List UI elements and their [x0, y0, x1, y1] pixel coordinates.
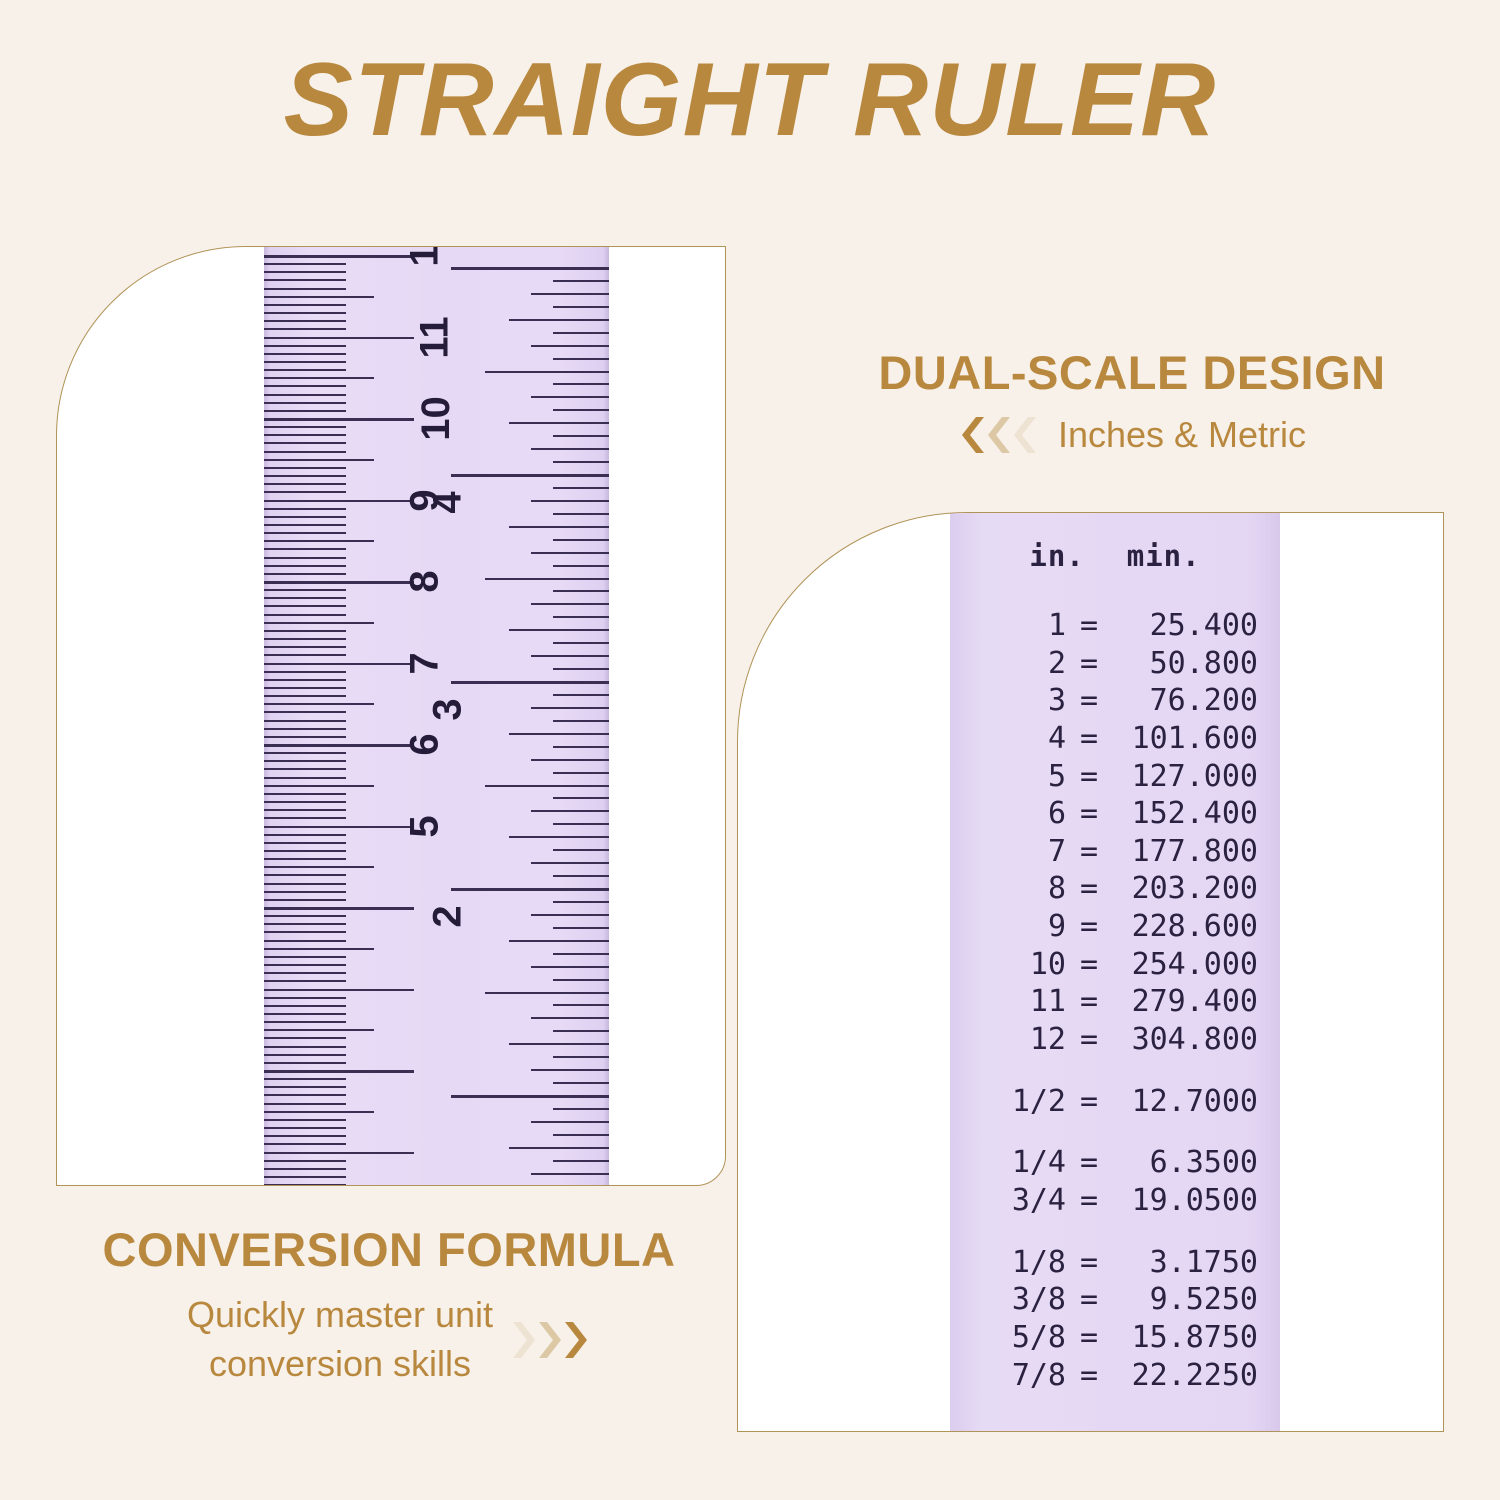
ruler-tick [553, 1134, 609, 1136]
ruler-tick [509, 629, 609, 631]
ruler-tick [264, 874, 346, 876]
ruler-tick [264, 1013, 346, 1015]
ruler-tick [531, 500, 609, 502]
ruler-tick [264, 948, 374, 950]
ruler-tick [264, 711, 346, 713]
chevron-right-icon [513, 1320, 539, 1360]
conversion-table: in. min. 1=25.4002=50.8003=76.2004=101.6… [950, 539, 1280, 1394]
ruler-tick [264, 989, 414, 992]
ruler-tick [264, 377, 374, 379]
ruler-tick [264, 353, 346, 355]
ruler-tick [553, 461, 609, 463]
ruler-tick [264, 557, 346, 559]
ruler-tick [264, 671, 346, 673]
ruler-tick [264, 915, 346, 917]
ruler-tick [264, 279, 346, 281]
ruler-tick [264, 1135, 346, 1137]
ruler-tick [264, 418, 414, 421]
ruler-tick [553, 927, 609, 929]
row-equals: = [1066, 758, 1112, 796]
row-inches: 8 [988, 870, 1066, 908]
ruler-tick [553, 1030, 609, 1032]
ruler-tick [553, 306, 609, 308]
ruler-tick [553, 720, 609, 722]
metric-scale-number: 6 [403, 733, 448, 755]
ruler-tick [264, 972, 346, 974]
ruler-tick [553, 772, 609, 774]
ruler-tick [553, 1160, 609, 1162]
ruler-tick [264, 1094, 346, 1096]
ruler-tick [264, 271, 346, 273]
ruler-tick [531, 1121, 609, 1123]
ruler-tick [264, 630, 346, 632]
metric-scale-number: 10 [414, 396, 459, 441]
ruler-tick [264, 589, 346, 591]
ruler-tick [264, 646, 346, 648]
ruler-tick [264, 491, 346, 493]
ruler-tick [264, 997, 346, 999]
ruler-tick [264, 345, 346, 347]
dual-scale-feature: DUAL-SCALE DESIGN Inches & Metric [812, 345, 1452, 456]
ruler-tick [264, 834, 346, 836]
row-millimeters: 50.800 [1112, 645, 1258, 683]
infographic-stage: STRAIGHT RULER 1111098765 432 in. min. 1… [0, 0, 1500, 1500]
ruler-tick [264, 1046, 346, 1048]
conversion-row: 8=203.200 [950, 870, 1280, 908]
ruler-tick [553, 746, 609, 748]
ruler-tick [264, 337, 414, 340]
ruler-tick [264, 410, 346, 412]
ruler-tick [553, 539, 609, 541]
ruler-tick [264, 663, 414, 666]
conversion-row: 9=228.600 [950, 908, 1280, 946]
row-equals: = [1066, 870, 1112, 908]
ruler-tick [264, 296, 374, 298]
chevron-right-icon [539, 1320, 565, 1360]
row-equals: = [1066, 908, 1112, 946]
ruler-tick [264, 1168, 346, 1170]
metric-scale-number: 7 [403, 652, 448, 674]
conversion-table-strip: in. min. 1=25.4002=50.8003=76.2004=101.6… [950, 513, 1280, 1431]
ruler-tick [531, 396, 609, 398]
conversion-rows-whole: 1=25.4002=50.8003=76.2004=101.6005=127.0… [950, 607, 1280, 1059]
ruler-tick [264, 1152, 414, 1155]
row-millimeters: 152.400 [1112, 795, 1258, 833]
ruler-tick [264, 597, 346, 599]
inch-scale-number: 2 [425, 905, 470, 927]
ruler-tick [553, 590, 609, 592]
ruler-tick [553, 953, 609, 955]
row-millimeters: 101.600 [1112, 720, 1258, 758]
ruler-tick [264, 785, 374, 787]
dual-scale-subtext: Inches & Metric [1058, 414, 1306, 456]
row-inches: 7/8 [988, 1357, 1066, 1395]
row-millimeters: 25.400 [1112, 607, 1258, 645]
conversion-row: 3/8=9.5250 [950, 1281, 1280, 1319]
metric-scale-number: 1 [403, 246, 448, 267]
conversion-rows-half: 1/2=12.7000 [950, 1083, 1280, 1121]
row-equals: = [1066, 946, 1112, 984]
ruler-tick [509, 1043, 609, 1045]
ruler-tick [264, 516, 346, 518]
row-inches: 7 [988, 833, 1066, 871]
ruler-tick [264, 1111, 374, 1113]
ruler-tick [264, 1086, 346, 1088]
ruler-tick [553, 849, 609, 851]
ruler-tick [264, 451, 346, 453]
ruler-tick [485, 992, 609, 994]
header-col-inches: in. [1029, 539, 1084, 573]
conversion-table-header: in. min. [950, 539, 1280, 573]
ruler-tick [451, 1095, 609, 1098]
conversion-row: 3=76.200 [950, 682, 1280, 720]
conversion-card: in. min. 1=25.4002=50.8003=76.2004=101.6… [737, 512, 1444, 1432]
ruler-tick [264, 475, 346, 477]
ruler-tick [264, 1021, 346, 1023]
row-inches: 3/4 [988, 1182, 1066, 1220]
ruler-tick [531, 655, 609, 657]
metric-tick-scale [264, 247, 436, 1185]
ruler-tick [553, 1082, 609, 1084]
row-inches: 9 [988, 908, 1066, 946]
row-inches: 1/8 [988, 1244, 1066, 1282]
ruler-tick [264, 263, 346, 265]
ruler-tick [264, 1054, 346, 1056]
ruler-tick [553, 280, 609, 282]
row-equals: = [1066, 645, 1112, 683]
ruler-tick [264, 956, 346, 958]
ruler-tick [264, 760, 346, 762]
row-inches: 1/2 [988, 1083, 1066, 1121]
ruler-tick [264, 768, 346, 770]
row-millimeters: 177.800 [1112, 833, 1258, 871]
ruler-tick [264, 1062, 346, 1064]
ruler-tick [264, 500, 414, 503]
conversion-row: 2=50.800 [950, 645, 1280, 683]
ruler-tick [264, 858, 346, 860]
ruler-tick [264, 687, 346, 689]
metric-scale-number: 11 [413, 316, 458, 358]
ruler-tick [553, 409, 609, 411]
row-inches: 1 [988, 607, 1066, 645]
row-equals: = [1066, 607, 1112, 645]
ruler-tick [531, 293, 609, 295]
ruler-tick [531, 707, 609, 709]
ruler-tick [264, 581, 414, 584]
ruler-tick [264, 540, 374, 542]
page-title: STRAIGHT RULER [0, 46, 1500, 155]
row-equals: = [1066, 682, 1112, 720]
conversion-row: 1/4=6.3500 [950, 1144, 1280, 1182]
chevron-left-icon [984, 415, 1010, 455]
ruler-tick [553, 901, 609, 903]
ruler-tick [264, 483, 346, 485]
ruler-tick [553, 1108, 609, 1110]
conversion-row: 1=25.400 [950, 607, 1280, 645]
ruler-tick [264, 467, 346, 469]
ruler-tick [264, 1184, 346, 1186]
ruler-tick [264, 923, 346, 925]
ruler-tick [264, 907, 414, 910]
metric-scale-number: 5 [403, 815, 448, 837]
ruler-tick [264, 883, 346, 885]
ruler-tick [531, 1017, 609, 1019]
conversion-subtext-line2: conversion skills [187, 1340, 493, 1389]
row-millimeters: 12.7000 [1112, 1083, 1258, 1121]
ruler-card: 1111098765 432 [56, 246, 726, 1186]
ruler-tick [264, 361, 346, 363]
ruler-tick [264, 385, 346, 387]
conversion-row: 7/8=22.2250 [950, 1357, 1280, 1395]
conversion-row: 4=101.600 [950, 720, 1280, 758]
conversion-formula-feature: CONVERSION FORMULA Quickly master unit c… [44, 1222, 734, 1388]
ruler-tick [264, 793, 346, 795]
ruler-tick [509, 733, 609, 735]
ruler-tick [509, 940, 609, 942]
ruler-tick [509, 526, 609, 528]
conversion-row: 5/8=15.8750 [950, 1319, 1280, 1357]
ruler-tick [553, 435, 609, 437]
conversion-rows-quarter: 1/4=6.35003/4=19.0500 [950, 1144, 1280, 1219]
conversion-row: 7=177.800 [950, 833, 1280, 871]
ruler-tick [264, 891, 346, 893]
ruler-tick [264, 548, 346, 550]
row-millimeters: 15.8750 [1112, 1319, 1258, 1357]
ruler-tick [553, 668, 609, 670]
ruler-tick [485, 371, 609, 373]
row-millimeters: 3.1750 [1112, 1244, 1258, 1282]
ruler-tick [485, 785, 609, 787]
chevron-right-group [513, 1320, 591, 1360]
ruler-tick [264, 1070, 414, 1073]
conversion-row: 12=304.800 [950, 1021, 1280, 1059]
ruler-tick [264, 508, 346, 510]
ruler-tick [553, 875, 609, 877]
metric-scale-number: 8 [403, 570, 448, 592]
row-inches: 4 [988, 720, 1066, 758]
row-millimeters: 304.800 [1112, 1021, 1258, 1059]
ruler-tick [264, 679, 346, 681]
conversion-rows-eighth: 1/8=3.17503/8=9.52505/8=15.87507/8=22.22… [950, 1244, 1280, 1395]
chevron-left-icon [958, 415, 984, 455]
header-col-millimeters: min. [1127, 539, 1201, 573]
row-millimeters: 203.200 [1112, 870, 1258, 908]
row-equals: = [1066, 1244, 1112, 1282]
ruler-tick [264, 752, 346, 754]
ruler-tick [264, 817, 346, 819]
ruler-tick [509, 1147, 609, 1149]
row-equals: = [1066, 1182, 1112, 1220]
row-inches: 11 [988, 983, 1066, 1021]
ruler-tick [264, 605, 346, 607]
ruler-tick [509, 422, 609, 424]
ruler-tick [531, 1069, 609, 1071]
ruler-tick [264, 426, 346, 428]
row-inches: 2 [988, 645, 1066, 683]
ruler-tick [264, 1143, 346, 1145]
ruler-tick [264, 980, 346, 982]
ruler-tick [264, 1160, 346, 1162]
row-millimeters: 22.2250 [1112, 1357, 1258, 1395]
ruler-tick [553, 487, 609, 489]
ruler-tick [264, 695, 346, 697]
ruler-tick [451, 474, 609, 477]
ruler-tick [264, 459, 374, 461]
ruler-tick [553, 797, 609, 799]
ruler-tick [264, 1103, 346, 1105]
ruler-tick [264, 288, 346, 290]
ruler-tick [531, 810, 609, 812]
ruler-tick [264, 809, 346, 811]
ruler-tick [531, 345, 609, 347]
ruler-tick [264, 565, 346, 567]
ruler-tick [531, 1173, 609, 1175]
row-millimeters: 279.400 [1112, 983, 1258, 1021]
ruler-tick [264, 622, 374, 624]
ruler-tick [531, 759, 609, 761]
ruler-tick [531, 448, 609, 450]
ruler-tick [553, 823, 609, 825]
conversion-row: 10=254.000 [950, 946, 1280, 984]
row-inches: 12 [988, 1021, 1066, 1059]
ruler-tick [264, 801, 346, 803]
row-equals: = [1066, 720, 1112, 758]
ruler-tick [531, 914, 609, 916]
row-millimeters: 228.600 [1112, 908, 1258, 946]
ruler-tick [509, 319, 609, 321]
row-equals: = [1066, 1357, 1112, 1395]
ruler-tick [553, 694, 609, 696]
ruler-tick [264, 1119, 346, 1121]
ruler-tick [553, 332, 609, 334]
ruler-tick [264, 328, 346, 330]
ruler-tick [264, 573, 346, 575]
ruler-tick [264, 654, 346, 656]
ruler-tick [531, 862, 609, 864]
ruler-tick [264, 964, 346, 966]
ruler-tick [264, 1078, 346, 1080]
conversion-row: 1/8=3.1750 [950, 1244, 1280, 1282]
ruler-tick [264, 850, 346, 852]
row-inches: 3 [988, 682, 1066, 720]
row-equals: = [1066, 1021, 1112, 1059]
ruler-tick [264, 304, 346, 306]
conversion-row: 5=127.000 [950, 758, 1280, 796]
ruler-tick [553, 642, 609, 644]
ruler-tick [264, 369, 346, 371]
ruler-tick [264, 866, 374, 868]
ruler-tick [451, 888, 609, 891]
ruler-tick [553, 979, 609, 981]
ruler-tick [264, 1176, 346, 1178]
row-millimeters: 254.000 [1112, 946, 1258, 984]
ruler-tick [553, 565, 609, 567]
ruler-tick [553, 358, 609, 360]
row-millimeters: 76.200 [1112, 682, 1258, 720]
ruler-tick [264, 1127, 346, 1129]
ruler-tick [264, 1005, 346, 1007]
ruler-tick [264, 940, 346, 942]
row-inches: 3/8 [988, 1281, 1066, 1319]
ruler-tick [264, 842, 346, 844]
chevron-left-icon [1010, 415, 1036, 455]
conversion-formula-heading: CONVERSION FORMULA [44, 1222, 734, 1277]
ruler-tick [264, 899, 346, 901]
ruler-tick [485, 578, 609, 580]
ruler-tick [264, 434, 346, 436]
row-inches: 1/4 [988, 1144, 1066, 1182]
row-equals: = [1066, 983, 1112, 1021]
ruler-tick [264, 638, 346, 640]
conversion-row: 1/2=12.7000 [950, 1083, 1280, 1121]
ruler-tick [264, 532, 346, 534]
row-millimeters: 6.3500 [1112, 1144, 1258, 1182]
row-inches: 5 [988, 758, 1066, 796]
ruler-tick [264, 320, 346, 322]
conversion-formula-subrow: Quickly master unit conversion skills [44, 1291, 734, 1388]
ruler-tick [264, 744, 414, 747]
conversion-row: 11=279.400 [950, 983, 1280, 1021]
ruler-tick [531, 552, 609, 554]
row-inches: 6 [988, 795, 1066, 833]
ruler-tick [531, 966, 609, 968]
ruler-tick [264, 703, 374, 705]
row-equals: = [1066, 1083, 1112, 1121]
inch-scale-number: 3 [425, 698, 470, 720]
row-equals: = [1066, 833, 1112, 871]
ruler-tick [264, 312, 346, 314]
row-millimeters: 19.0500 [1112, 1182, 1258, 1220]
chevron-left-group [958, 415, 1036, 455]
ruler-tick [264, 826, 414, 829]
ruler-tick [264, 402, 346, 404]
ruler-tick [451, 681, 609, 684]
row-equals: = [1066, 1319, 1112, 1357]
row-equals: = [1066, 1144, 1112, 1182]
row-equals: = [1066, 795, 1112, 833]
row-inches: 5/8 [988, 1319, 1066, 1357]
ruler-tick [531, 603, 609, 605]
ruler-tick [264, 720, 346, 722]
dual-scale-heading: DUAL-SCALE DESIGN [812, 345, 1452, 400]
dual-scale-subrow: Inches & Metric [812, 414, 1452, 456]
ruler-tick [264, 1029, 374, 1031]
ruler-tick [264, 931, 346, 933]
ruler-tick [264, 1037, 346, 1039]
ruler-tick [264, 394, 346, 396]
row-millimeters: 9.5250 [1112, 1281, 1258, 1319]
conversion-row: 6=152.400 [950, 795, 1280, 833]
ruler-tick [553, 1056, 609, 1058]
ruler-tick [553, 1004, 609, 1006]
conversion-row: 3/4=19.0500 [950, 1182, 1280, 1220]
ruler-tick [553, 616, 609, 618]
conversion-subtext-line1: Quickly master unit [187, 1291, 493, 1340]
ruler-tick [264, 728, 346, 730]
inch-scale-number: 4 [425, 491, 470, 513]
ruler-tick [264, 442, 346, 444]
ruler-tick [509, 836, 609, 838]
ruler-tick [451, 267, 609, 270]
ruler-tick [264, 736, 346, 738]
row-millimeters: 127.000 [1112, 758, 1258, 796]
row-equals: = [1066, 1281, 1112, 1319]
ruler-tick [264, 777, 346, 779]
conversion-formula-subtext: Quickly master unit conversion skills [187, 1291, 493, 1388]
ruler-tick [264, 255, 414, 258]
ruler-tick [553, 513, 609, 515]
chevron-right-icon [565, 1320, 591, 1360]
